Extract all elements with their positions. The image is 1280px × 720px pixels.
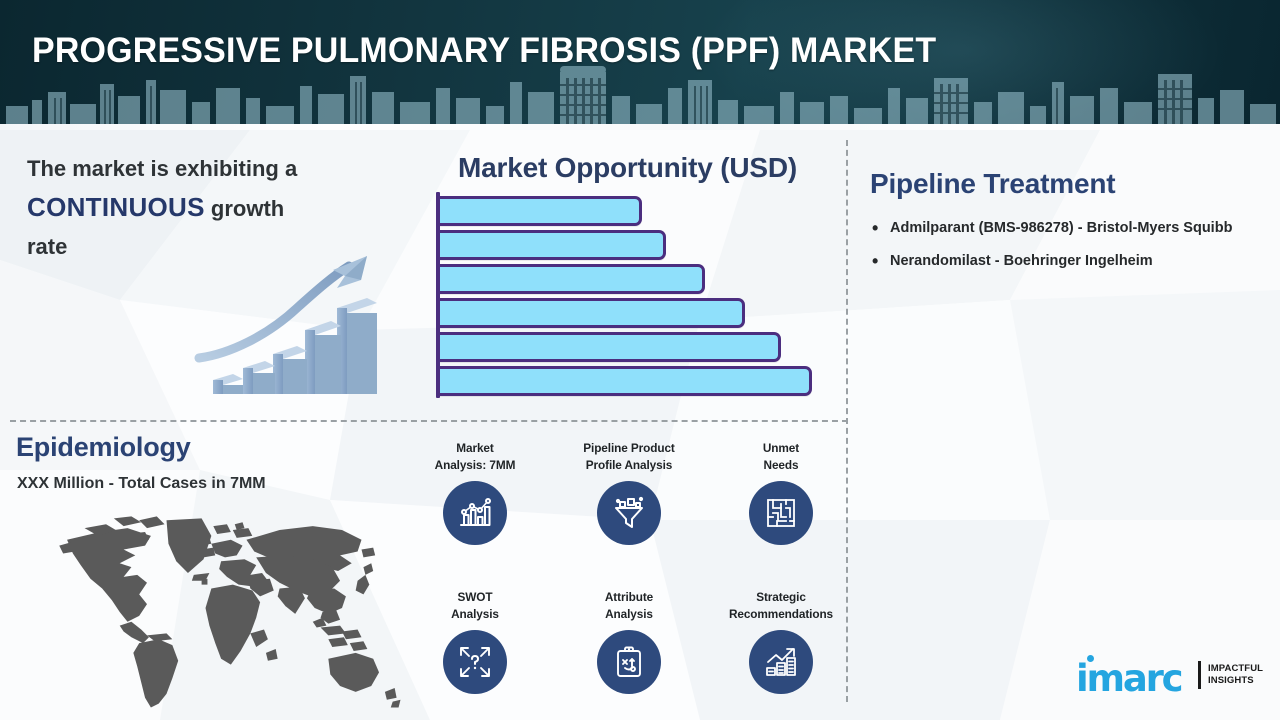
icon-label-line2: Analysis [605,607,653,621]
bar-row [440,366,812,396]
logo-wordmark: imarc [1076,657,1181,700]
bar-row [440,196,642,226]
icon-label: Pipeline Product Profile Analysis [559,440,699,473]
icon-label-line2: Recommendations [729,607,833,621]
icon-label: Strategic Recommendations [711,589,851,622]
lead-line-2-rest: growth [205,196,284,221]
bar [440,298,745,328]
list-item: Nerandomilast - Boehringer Ingelheim [870,245,1260,278]
logo-separator [1198,661,1201,689]
horizontal-divider [10,420,848,422]
funnel-icon [597,481,661,545]
epidemiology-title: Epidemiology [16,432,191,463]
icon-label-line2: Analysis [451,607,499,621]
bar-row [440,230,666,260]
icon-label-line1: SWOT [458,590,493,604]
market-opportunity-bar-chart [436,192,836,398]
bar-row [440,332,781,362]
imarc-logo[interactable]: imarc IMPACTFUL INSIGHTS [1076,655,1261,697]
bar [440,366,812,396]
logo-tagline-line2: INSIGHTS [1208,675,1254,686]
icon-label: Unmet Needs [711,440,851,473]
icon-cell-swot-analysis[interactable]: SWOT Analysis [405,589,545,694]
maze-icon [749,481,813,545]
bar-row [440,298,745,328]
bar [440,196,642,226]
swot-arrows-question-icon [443,630,507,694]
lead-statement: The market is exhibiting a CONTINUOUS gr… [27,150,392,266]
icon-label-line1: Strategic [756,590,806,604]
icon-label-line1: Pipeline Product [583,441,674,455]
bar [440,230,666,260]
icon-label-line1: Unmet [763,441,799,455]
bar [440,332,781,362]
chart-title: Market Opportunity (USD) [415,152,840,184]
icon-cell-attribute-analysis[interactable]: Attribute Analysis [559,589,699,694]
icon-label-line1: Attribute [605,590,653,604]
icon-cell-market-analysis[interactable]: Market Analysis: 7MM [405,440,545,545]
icon-cell-pipeline-product-profile[interactable]: Pipeline Product Profile Analysis [559,440,699,545]
lead-highlight: CONTINUOUS [27,192,205,222]
icon-label-line2: Profile Analysis [586,458,672,472]
icon-label: Market Analysis: 7MM [405,440,545,473]
epidemiology-subtitle: XXX Million - Total Cases in 7MM [17,475,266,493]
pipeline-treatment-section: Pipeline Treatment Admilparant (BMS-9862… [870,168,1260,278]
icon-label-line2: Needs [764,458,799,472]
lead-line-1: The market is exhibiting a [27,156,297,181]
pipeline-title: Pipeline Treatment [870,168,1260,200]
icon-cell-unmet-needs[interactable]: Unmet Needs [711,440,851,545]
logo-tagline-line1: IMPACTFUL [1208,663,1263,674]
growth-chart-arrow-icon [185,250,400,410]
bar-chart-line-icon [443,481,507,545]
icon-cell-strategic-recommendations[interactable]: Strategic Recommendations [711,589,851,694]
icon-label: Attribute Analysis [559,589,699,622]
icon-label-line2: Analysis: 7MM [435,458,516,472]
lead-line-3: rate [27,234,67,259]
logo-tagline: IMPACTFUL INSIGHTS [1208,663,1263,687]
icon-label-line1: Market [456,441,493,455]
bar-row [440,264,705,294]
infographic-poster: PROGRESSIVE PULMONARY FIBROSIS (PPF) MAR… [0,0,1280,720]
header-banner: PROGRESSIVE PULMONARY FIBROSIS (PPF) MAR… [0,0,1280,124]
pipeline-list: Admilparant (BMS-986278) - Bristol-Myers… [870,212,1260,278]
icon-label: SWOT Analysis [405,589,545,622]
world-map-icon [30,505,420,715]
list-item: Admilparant (BMS-986278) - Bristol-Myers… [870,212,1260,245]
city-skyline-icon [0,62,1280,124]
page-title: PROGRESSIVE PULMONARY FIBROSIS (PPF) MAR… [32,31,936,71]
growth-bars-arrow-icon [749,630,813,694]
clipboard-strategy-icon [597,630,661,694]
bar [440,264,705,294]
